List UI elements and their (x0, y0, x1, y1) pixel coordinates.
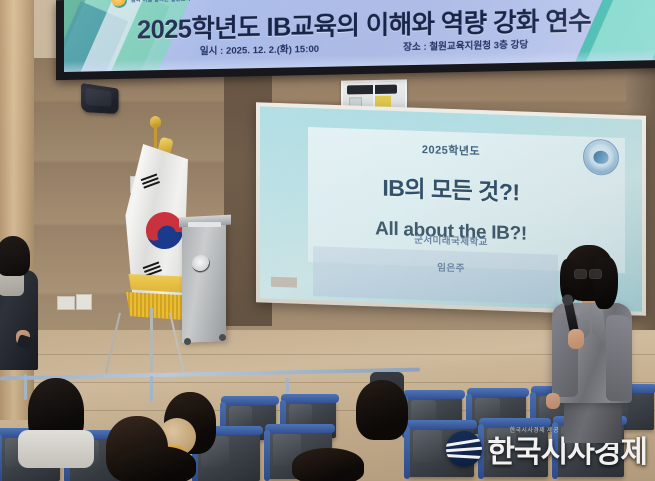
banner-place-label: 장소 : 철원교육지원청 3층 강당 (403, 37, 528, 54)
education-office-logo-icon (112, 0, 127, 8)
led-banner-frame: 꿈과 끼를 살리는 철원교육 2025학년도 IB교육의 이해와 역량 강화 연… (56, 0, 655, 80)
projector-device (347, 85, 397, 95)
audience-head (118, 446, 196, 481)
flag-stand-post (150, 308, 153, 372)
wave-circle-logo-icon (446, 431, 482, 467)
eyeglasses-icon (574, 269, 602, 277)
railing-post (150, 376, 153, 402)
banner-logo-text: 꿈과 끼를 살리는 철원교육 (131, 0, 191, 3)
audience-head (292, 448, 364, 481)
presenter-hair-side (594, 257, 618, 309)
led-banner: 꿈과 끼를 살리는 철원교육 2025학년도 IB교육의 이해와 역량 강화 연… (64, 0, 655, 72)
lectern (182, 221, 226, 343)
presenter-hand (568, 329, 584, 349)
wall-outlet-secondary (76, 294, 92, 310)
lectern-emblem-icon (192, 255, 210, 273)
standing-attendee-left (0, 236, 48, 386)
ceiling-speaker-icon (81, 83, 118, 114)
attendee-head (0, 236, 30, 276)
audience-head (356, 380, 408, 440)
railing-post (24, 374, 27, 400)
presenter-arm (606, 315, 632, 401)
lectern-control-plate (188, 222, 221, 227)
lectern-caster (219, 334, 226, 341)
wall-outlet (57, 296, 75, 310)
flag-gold-fringe (122, 292, 190, 320)
flag-pole (154, 124, 157, 150)
banner-date-label: 일시 : 2025. 12. 2.(화) 15:00 (200, 41, 319, 57)
photo-canvas: 꿈과 끼를 살리는 철원교육 2025학년도 IB교육의 이해와 역량 강화 연… (0, 0, 655, 481)
audience-head (28, 378, 84, 446)
lectern-caster (184, 338, 191, 345)
presenter-hand (546, 393, 560, 409)
